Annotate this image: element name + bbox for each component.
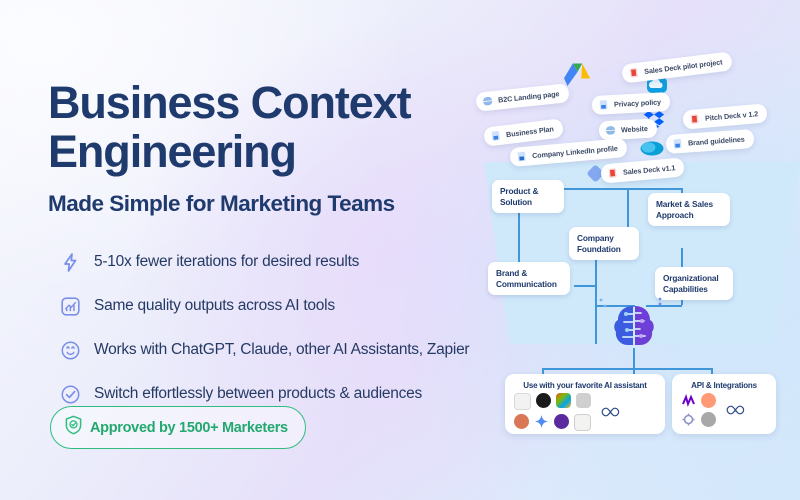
gemini-icon[interactable] xyxy=(534,414,549,429)
list-item: Works with ChatGPT, Claude, other AI Ass… xyxy=(55,333,525,367)
chip-label: Sales Deck pilot project xyxy=(644,57,723,76)
globe-doc-icon xyxy=(605,125,617,137)
list-item[interactable]: B2C Landing page xyxy=(475,83,569,112)
connector-line xyxy=(595,254,597,344)
feature-label: 5-10x fewer iterations for desired resul… xyxy=(94,253,359,271)
list-item[interactable]: Business Plan xyxy=(483,118,564,146)
chip-label: B2C Landing page xyxy=(498,89,560,104)
page-title: Business Context Engineering xyxy=(48,78,518,176)
brain-sparkle-right-icon xyxy=(656,296,666,310)
shield-check-icon xyxy=(64,415,83,440)
node-label: Product & Solution xyxy=(500,186,538,207)
api-integrations-card: API & Integrations xyxy=(672,374,776,434)
copilot-icon[interactable] xyxy=(556,393,571,408)
diagram-node-foundation[interactable]: Company Foundation xyxy=(569,227,639,260)
chip-label: Company LinkedIn profile xyxy=(532,144,618,160)
check-circle-icon xyxy=(55,385,85,404)
infinity-icon xyxy=(724,402,750,418)
blue-doc-icon xyxy=(598,99,610,111)
page-subtitle: Made Simple for Marketing Teams xyxy=(48,190,518,218)
card-title: Use with your favorite AI assistant xyxy=(505,374,665,393)
n8n-icon[interactable] xyxy=(681,412,696,427)
chip-label: Brand guidelines xyxy=(688,135,745,148)
list-item: 5-10x fewer iterations for desired resul… xyxy=(55,245,525,279)
chip-label: Pitch Deck v 1.2 xyxy=(705,109,759,123)
chart-box-icon xyxy=(55,297,85,316)
notion-icon[interactable] xyxy=(574,414,591,431)
infinity-icon xyxy=(599,404,625,420)
red-doc-icon xyxy=(607,167,619,179)
document-chip-cloud: B2C Landing page Privacy policy Sales De… xyxy=(470,50,800,175)
theo-icon[interactable] xyxy=(554,414,569,429)
grok-icon[interactable] xyxy=(576,393,591,408)
connector-line xyxy=(542,368,712,370)
status-badge: Approved by 1500+ Marketers xyxy=(50,406,306,449)
list-item[interactable]: Pitch Deck v 1.2 xyxy=(682,103,767,129)
blue-doc-icon xyxy=(490,130,502,142)
list-item[interactable]: Brand guidelines xyxy=(665,129,754,154)
feature-label: Works with ChatGPT, Claude, other AI Ass… xyxy=(94,341,469,359)
list-item[interactable]: Sales Deck pilot project xyxy=(621,51,732,83)
headline-line-2: Engineering xyxy=(48,126,296,177)
ai-assistant-card: Use with your favorite AI assistant xyxy=(505,374,665,434)
albato-icon[interactable] xyxy=(701,412,716,427)
node-label: Company Foundation xyxy=(577,233,621,254)
connector-line xyxy=(574,285,596,287)
deepseek-icon[interactable] xyxy=(536,393,551,408)
linkedin-doc-icon xyxy=(516,151,528,163)
chip-label: Privacy policy xyxy=(614,97,661,108)
api-icon-grid xyxy=(672,393,776,435)
connector-line xyxy=(627,188,683,190)
list-item[interactable]: Website xyxy=(599,119,658,141)
feature-list: 5-10x fewer iterations for desired resul… xyxy=(55,245,525,421)
brain-sparkle-left-icon xyxy=(598,297,608,313)
node-label: Brand & Communication xyxy=(496,268,557,289)
diagram-node-organization[interactable]: Organizational Capabilities xyxy=(655,267,733,300)
list-item: Same quality outputs across AI tools xyxy=(55,289,525,323)
red-doc-icon xyxy=(628,67,640,79)
chip-label: Sales Deck v1.1 xyxy=(623,163,676,177)
diagram-node-product[interactable]: Product & Solution xyxy=(492,180,564,213)
card-title: API & Integrations xyxy=(672,374,776,393)
lightning-bolt-icon xyxy=(55,252,85,273)
product-illustration: B2C Landing page Privacy policy Sales De… xyxy=(470,0,800,500)
diagram-node-market[interactable]: Market & Sales Approach xyxy=(648,193,730,226)
badge-label: Approved by 1500+ Marketers xyxy=(90,420,288,436)
globe-doc-icon xyxy=(482,95,494,107)
headline-block: Business Context Engineering Made Simple… xyxy=(48,78,518,218)
headline-line-1: Business Context xyxy=(48,77,410,128)
hero-banner: Business Context Engineering Made Simple… xyxy=(0,0,800,500)
feature-label: Switch effortlessly between products & a… xyxy=(94,385,422,403)
node-label: Organizational Capabilities xyxy=(663,273,719,294)
zapier-icon[interactable] xyxy=(701,393,716,408)
list-item[interactable]: Privacy policy xyxy=(592,92,671,115)
ai-assistant-icon-grid xyxy=(505,393,665,439)
make-icon[interactable] xyxy=(681,393,696,408)
ai-brain-icon xyxy=(608,300,660,352)
red-doc-icon xyxy=(689,113,701,125)
blue-doc-icon xyxy=(672,138,684,150)
smiley-face-icon xyxy=(55,341,85,360)
node-label: Market & Sales Approach xyxy=(656,199,713,220)
claude-icon[interactable] xyxy=(514,414,529,429)
openai-icon[interactable] xyxy=(514,393,531,410)
chip-label: Business Plan xyxy=(506,124,555,139)
chip-label: Website xyxy=(621,124,648,134)
feature-label: Same quality outputs across AI tools xyxy=(94,297,335,315)
diagram-node-brand[interactable]: Brand & Communication xyxy=(488,262,570,295)
list-item[interactable]: Company LinkedIn profile xyxy=(509,138,627,167)
